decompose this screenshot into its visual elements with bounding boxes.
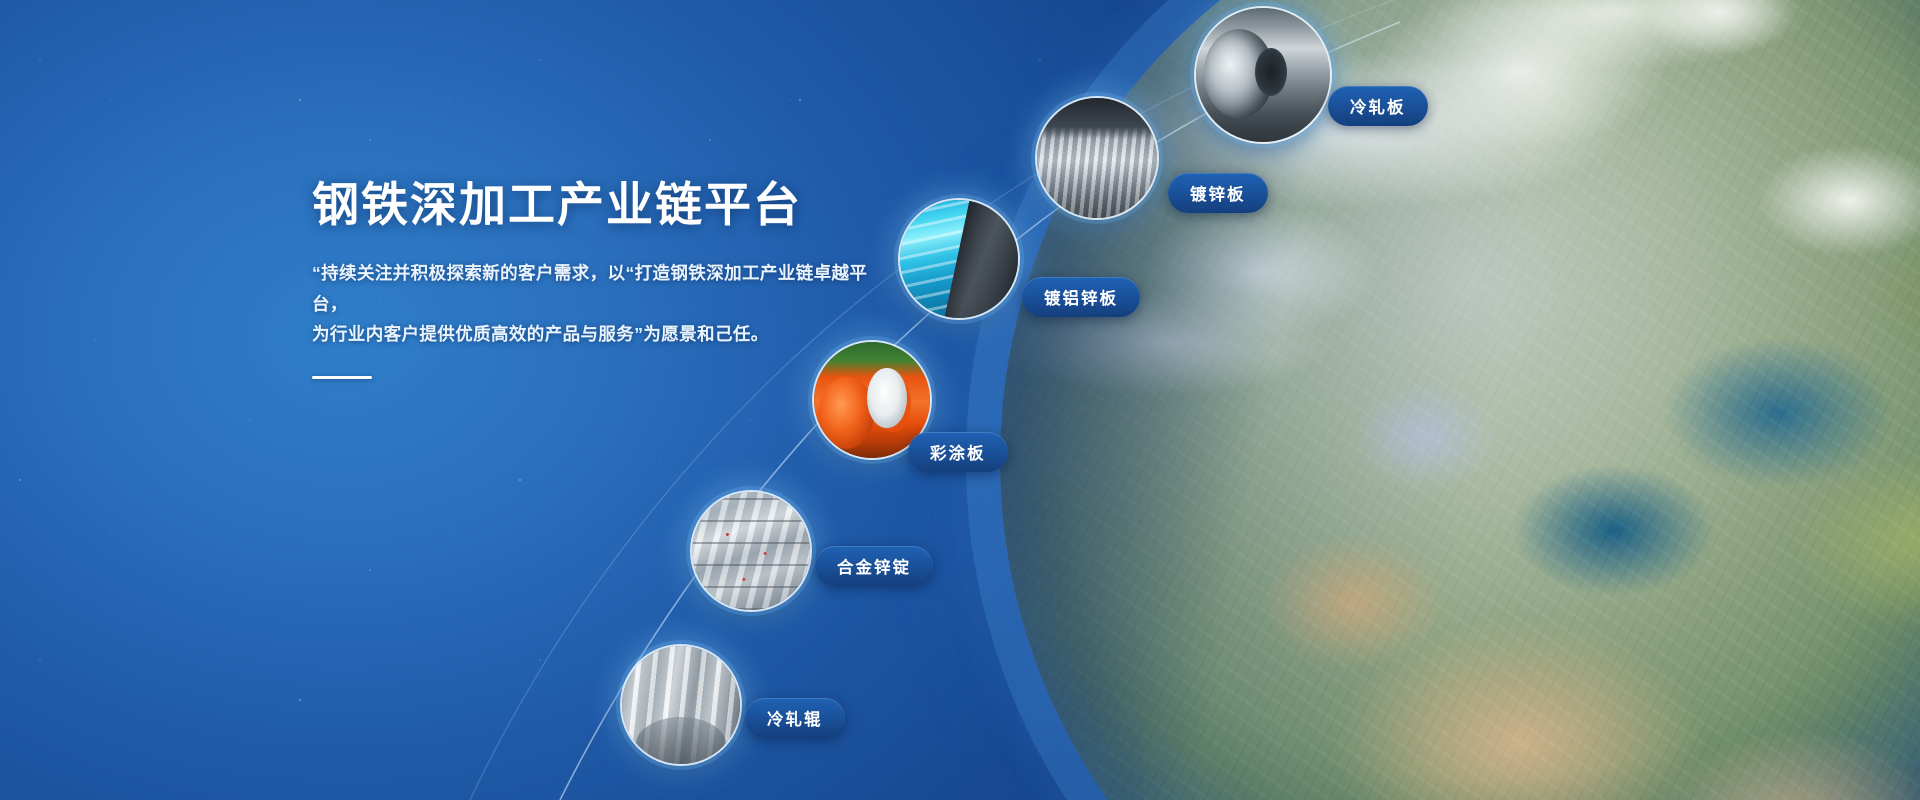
hero-subtitle-line-2: 为行业内客户提供优质高效的产品与服务”为愿景和己任。 xyxy=(312,319,892,350)
title-underline-rule xyxy=(312,376,372,379)
zinc-ingot-photo[interactable] xyxy=(690,490,812,612)
galvanized-warehouse-image xyxy=(1037,98,1157,218)
zinc-ingot-image xyxy=(692,492,810,610)
cold-rolling-roller-image xyxy=(622,646,740,764)
hero-copy: 钢铁深加工产业链平台 “持续关注并积极探索新的客户需求，以“打造钢铁深加工产业链… xyxy=(312,178,892,379)
cold-rolling-roller-photo[interactable] xyxy=(620,644,742,766)
starfield-decoration-secondary xyxy=(70,40,1920,800)
hero-subtitle-line-1: “持续关注并积极探索新的客户需求，以“打造钢铁深加工产业链卓越平台， xyxy=(312,258,892,319)
steel-coil-photo[interactable] xyxy=(1194,6,1332,144)
starfield-decoration xyxy=(0,0,1920,800)
galvalume-coil-photo[interactable] xyxy=(898,198,1020,320)
galvalume-coil-image xyxy=(900,200,1018,318)
product-label-galvanized-plate[interactable]: 镀锌板 xyxy=(1168,173,1268,213)
product-label-cold-rolled-plate[interactable]: 冷轧板 xyxy=(1328,86,1428,126)
steel-coil-image xyxy=(1196,8,1330,142)
product-label-alloy-zinc-ingot[interactable]: 合金锌锭 xyxy=(815,546,933,586)
product-label-color-coated-plate[interactable]: 彩涂板 xyxy=(908,432,1008,472)
hero-subtitle: “持续关注并积极探索新的客户需求，以“打造钢铁深加工产业链卓越平台， 为行业内客… xyxy=(312,258,892,350)
connector-arc xyxy=(0,0,1920,800)
hero-banner: 钢铁深加工产业链平台 “持续关注并积极探索新的客户需求，以“打造钢铁深加工产业链… xyxy=(0,0,1920,800)
galvanized-warehouse-photo[interactable] xyxy=(1035,96,1159,220)
page-title: 钢铁深加工产业链平台 xyxy=(312,178,892,232)
product-label-cold-rolling-roller[interactable]: 冷轧辊 xyxy=(745,698,845,738)
product-label-galvalume-plate[interactable]: 镀铝锌板 xyxy=(1022,277,1140,317)
